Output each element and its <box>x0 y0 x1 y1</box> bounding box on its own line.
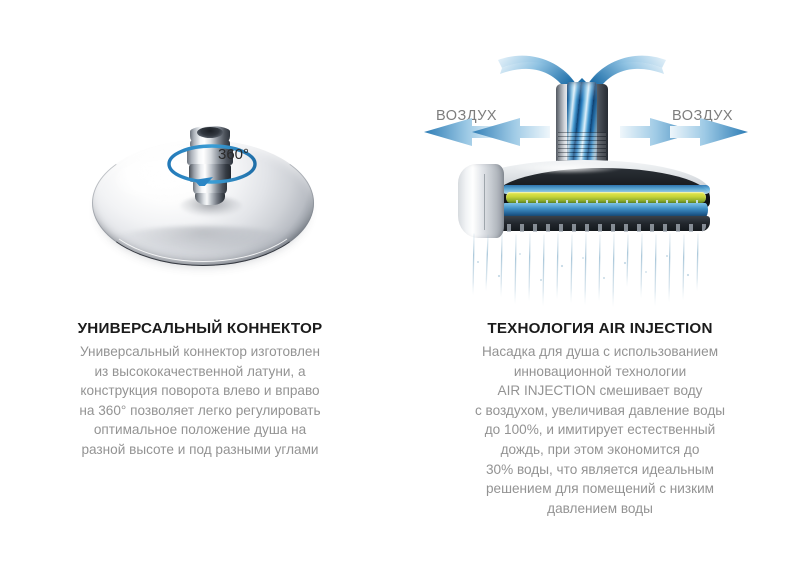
panel-title-universal-connector: УНИВЕРСАЛЬНЫЙ КОННЕКТОР <box>30 320 370 338</box>
body-line: конструкция поворота влево и вправо <box>30 381 370 401</box>
body-line: давлением воды <box>430 499 770 519</box>
body-line: с воздухом, увеличивая давление воды <box>430 401 770 421</box>
shower-head-illustration: 360° <box>92 122 314 282</box>
air-outflow-arrow-left-inner <box>472 118 550 146</box>
chrome-nose-seam <box>484 174 485 230</box>
body-line: AIR INJECTION смешивает воду <box>430 381 770 401</box>
body-line: оптимальное положение душа на <box>30 420 370 440</box>
body-line: дождь, при этом экономится до <box>430 440 770 460</box>
air-injection-illustration: ВОЗДУХ ВОЗДУХ <box>410 42 790 310</box>
body-line: до 100%, и имитирует естественный <box>430 420 770 440</box>
air-outflow-arrow-right-outer <box>670 118 748 146</box>
caption-air-injection: ТЕХНОЛОГИЯ AIR INJECTION Насадка для душ… <box>430 320 770 518</box>
water-chamber-lower <box>502 203 708 217</box>
panel-universal-connector: 360° УНИВЕРСАЛЬНЫЙ КОННЕКТОР Универсальн… <box>0 0 400 564</box>
panel-body-air-injection: Насадка для душа с использованием иннова… <box>430 342 770 518</box>
nozzle-tips <box>498 224 706 232</box>
body-line: инновационной технологии <box>430 362 770 382</box>
body-line: разной высоте и под разными углами <box>30 440 370 460</box>
infographic-page: 360° УНИВЕРСАЛЬНЫЙ КОННЕКТОР Универсальн… <box>0 0 800 564</box>
body-line: Насадка для душа с использованием <box>430 342 770 362</box>
body-line: решением для помещений с низким <box>430 479 770 499</box>
panel-title-air-injection: ТЕХНОЛОГИЯ AIR INJECTION <box>430 320 770 338</box>
rotation-degree-label: 360° <box>218 146 249 163</box>
figure-round-shower-head: 360° <box>0 0 400 310</box>
panel-body-universal-connector: Универсальный коннектор изготовлен из вы… <box>30 342 370 460</box>
body-line: из высококачественной латуни, а <box>30 362 370 382</box>
body-highlight <box>512 162 622 174</box>
chrome-nose-cap <box>458 164 504 238</box>
body-line: 30% воды, что является идеальным <box>430 460 770 480</box>
connector-base <box>195 193 225 205</box>
caption-universal-connector: УНИВЕРСАЛЬНЫЙ КОННЕКТОР Универсальный ко… <box>30 320 370 460</box>
figure-air-injection-cutaway: ВОЗДУХ ВОЗДУХ <box>400 0 800 310</box>
water-spray <box>468 232 704 310</box>
panel-air-injection: ВОЗДУХ ВОЗДУХ <box>400 0 800 564</box>
body-line: на 360° позволяет легко регулировать <box>30 401 370 421</box>
connector-bore <box>197 127 223 138</box>
body-line: Универсальный коннектор изготовлен <box>30 342 370 362</box>
